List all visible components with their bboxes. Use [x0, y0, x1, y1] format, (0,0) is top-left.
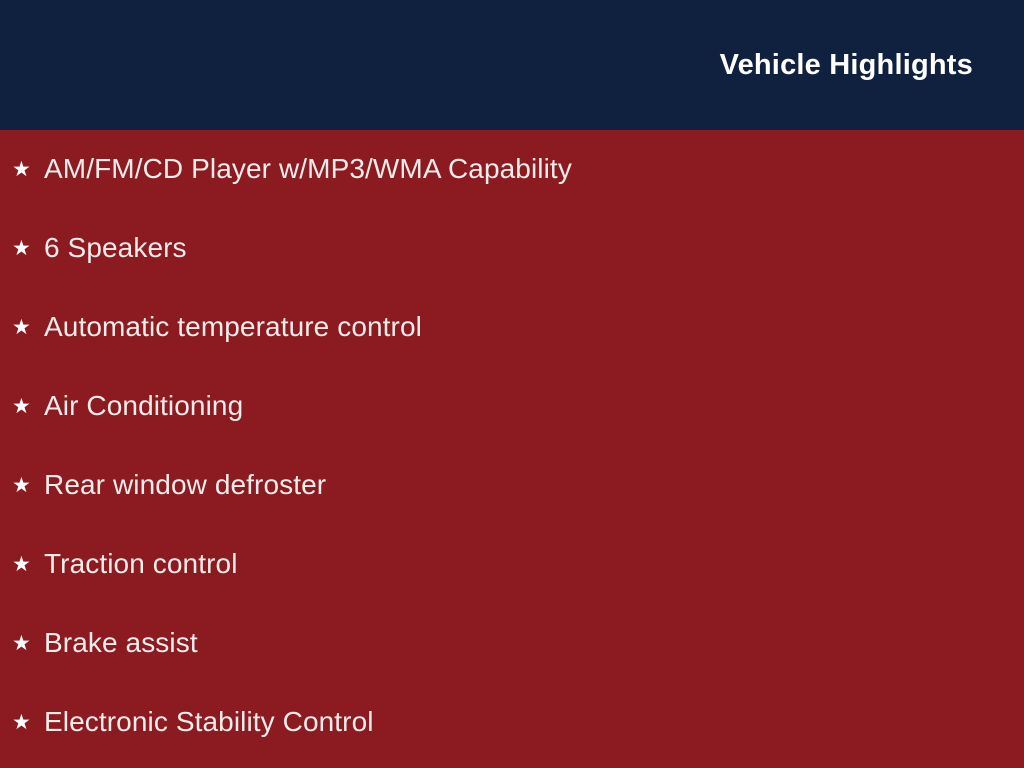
list-item-label: AM/FM/CD Player w/MP3/WMA Capability: [44, 154, 572, 185]
star-bullet-icon: ★: [12, 317, 44, 338]
star-bullet-icon: ★: [12, 633, 44, 654]
list-item-label: Rear window defroster: [44, 470, 326, 501]
page-title: Vehicle Highlights: [720, 51, 973, 80]
star-bullet-icon: ★: [12, 712, 44, 733]
star-bullet-icon: ★: [12, 238, 44, 259]
list-item: ★ Brake assist: [0, 604, 1024, 683]
list-item: ★ 6 Speakers: [0, 209, 1024, 288]
list-item-label: Electronic Stability Control: [44, 707, 374, 738]
slide-header: Vehicle Highlights: [0, 0, 1024, 130]
star-bullet-icon: ★: [12, 475, 44, 496]
list-item-label: Brake assist: [44, 628, 198, 659]
star-bullet-icon: ★: [12, 554, 44, 575]
list-item: ★ Electronic Stability Control: [0, 683, 1024, 762]
list-item-label: Air Conditioning: [44, 391, 243, 422]
list-item: ★ AM/FM/CD Player w/MP3/WMA Capability: [0, 130, 1024, 209]
star-bullet-icon: ★: [12, 159, 44, 180]
star-bullet-icon: ★: [12, 396, 44, 417]
list-item-label: Automatic temperature control: [44, 312, 422, 343]
vehicle-highlights-list: ★ AM/FM/CD Player w/MP3/WMA Capability ★…: [0, 130, 1024, 768]
list-item-label: Traction control: [44, 549, 238, 580]
list-item: ★ Air Conditioning: [0, 367, 1024, 446]
list-item: ★ Rear window defroster: [0, 446, 1024, 525]
list-item: ★ Automatic temperature control: [0, 288, 1024, 367]
vehicle-highlights-slide: Vehicle Highlights ★ AM/FM/CD Player w/M…: [0, 0, 1024, 768]
list-item-label: 6 Speakers: [44, 233, 187, 264]
list-item: ★ Traction control: [0, 525, 1024, 604]
